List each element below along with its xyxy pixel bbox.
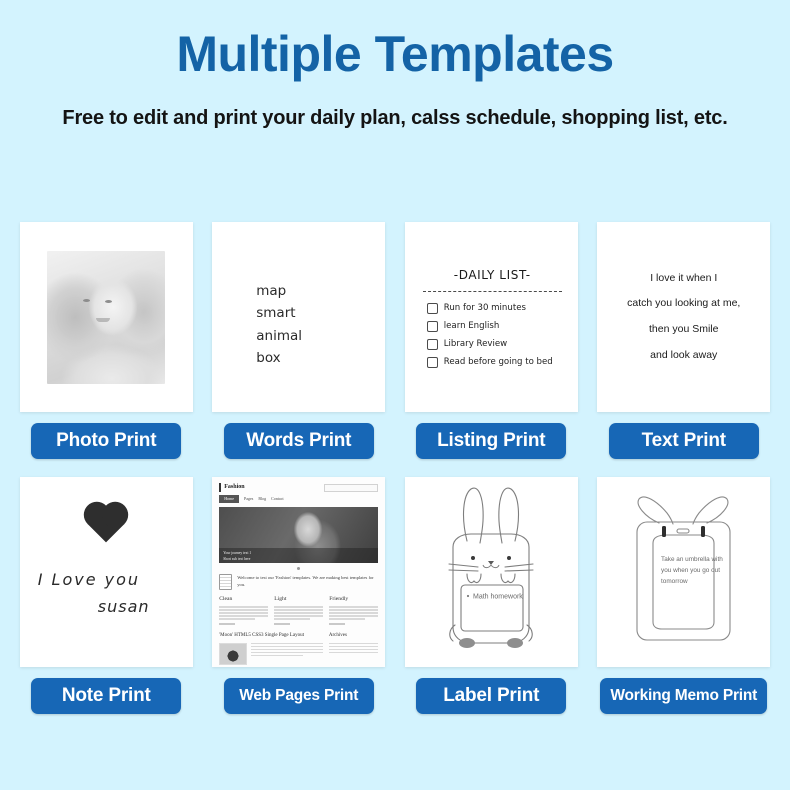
web-read-more-link[interactable] [329, 623, 345, 625]
page-root: Multiple Templates Free to edit and prin… [0, 0, 790, 790]
memo-text-line: Take an umbrella with [661, 556, 723, 563]
listing-print-button[interactable]: Listing Print [416, 423, 566, 459]
bunny-arm-left [467, 574, 481, 583]
card-text-print[interactable]: I love it when I catch you looking at me… [597, 222, 770, 412]
photo-frame [42, 242, 170, 392]
label-print-button[interactable]: Label Print [416, 678, 566, 714]
checklist-item[interactable]: Run for 30 minutes [427, 303, 564, 314]
web-header: Fashion [219, 483, 378, 492]
card-note-print[interactable]: I Love you susan [20, 477, 193, 667]
web-screenshot: Fashion Home Pages Blog Contact Your jou… [212, 477, 385, 667]
web-thumbnail-image [219, 643, 247, 665]
checkbox-icon[interactable] [427, 339, 438, 350]
text-block: I love it when I catch you looking at me… [597, 266, 770, 369]
web-bottom-heading: 'Moon' HTML5 CSS3 Single Page Layout [219, 632, 323, 640]
web-text-placeholder [219, 606, 268, 619]
checklist-item-label: learn English [444, 322, 500, 331]
checklist-item[interactable]: Library Review [427, 339, 564, 350]
heart-icon [88, 506, 125, 543]
template-grid: Photo Print map smart animal box Words P… [0, 222, 790, 714]
checklist-item-label: Library Review [444, 340, 507, 349]
memo-ear-left [638, 497, 673, 524]
web-bottom-section: 'Moon' HTML5 CSS3 Single Page Layout Arc… [219, 632, 378, 665]
web-search-field[interactable] [324, 484, 378, 492]
template-cell-listing-print: -DAILY LIST- Run for 30 minutes learn En… [395, 222, 588, 459]
web-logo: Fashion [219, 483, 244, 492]
bunny-nose [488, 561, 494, 565]
words-print-button[interactable]: Words Print [224, 423, 374, 459]
checklist-item[interactable]: learn English [427, 321, 564, 332]
web-nav-item[interactable]: Contact [271, 496, 283, 502]
page-title: Multiple Templates [0, 28, 790, 81]
template-cell-photo-print: Photo Print [10, 222, 203, 459]
bunny-eye-left [471, 556, 475, 560]
web-carousel-dot-icon[interactable] [297, 567, 300, 570]
web-read-more-link[interactable] [274, 623, 290, 625]
web-feature-columns: Clean Light Friendly [219, 595, 378, 627]
web-text-placeholder [329, 643, 378, 653]
memo-clip-right [701, 526, 705, 537]
web-feature-heading: Friendly [329, 595, 378, 603]
word-list: map smart animal box [212, 222, 385, 412]
card-words-print[interactable]: map smart animal box [212, 222, 385, 412]
card-working-memo-print[interactable]: Take an umbrella with you when you go ou… [597, 477, 770, 667]
web-nav-item[interactable]: Home [219, 495, 239, 503]
checklist-item-label: Run for 30 minutes [444, 304, 526, 313]
web-text-placeholder [329, 606, 378, 619]
template-cell-web-pages-print: Fashion Home Pages Blog Contact Your jou… [203, 477, 396, 714]
memo-text-line: you when you go out [661, 567, 720, 574]
web-read-more-link[interactable] [219, 623, 235, 625]
bunny-body [453, 534, 529, 643]
web-feature-heading: Light [274, 595, 323, 603]
photo-print-button[interactable]: Photo Print [31, 423, 181, 459]
bunny-foot-left [459, 638, 475, 648]
web-bottom-sidebar: Archives [329, 632, 378, 665]
web-sidebar-heading: Archives [329, 632, 378, 640]
note-line-1: I Love you [38, 570, 140, 589]
web-nav: Home Pages Blog Contact [219, 495, 378, 503]
web-feature-column: Clean [219, 595, 268, 627]
word-item: box [256, 347, 385, 369]
html5-badge-icon [219, 574, 232, 590]
template-cell-working-memo-print: Take an umbrella with you when you go ou… [588, 477, 781, 714]
web-feature-column: Friendly [329, 595, 378, 627]
template-cell-words-print: map smart animal box Words Print [203, 222, 396, 459]
card-label-print[interactable]: Math homework [405, 477, 578, 667]
word-item: map [256, 280, 385, 302]
memo-slot [677, 529, 689, 533]
bunny-foot-right [507, 638, 523, 648]
web-text-placeholder [274, 606, 323, 619]
page-subtitle: Free to edit and print your daily plan, … [45, 103, 745, 134]
bunny-mouth [483, 565, 499, 568]
dashed-divider [423, 291, 562, 292]
note-line-2: susan [98, 597, 150, 616]
web-feature-heading: Clean [219, 595, 268, 603]
web-thumb-row [219, 643, 323, 665]
text-line: then you Smile [607, 317, 760, 343]
web-hero-image: Your journey text 1 Short sub text here [219, 507, 378, 563]
memo-clip-left [662, 526, 666, 537]
checkbox-icon[interactable] [427, 321, 438, 332]
text-line: catch you looking at me, [607, 291, 760, 317]
daily-list-title: -DAILY LIST- [421, 268, 564, 282]
web-feature-column: Light [274, 595, 323, 627]
label-box [461, 585, 523, 631]
label-text: Math homework [473, 594, 523, 601]
daily-list: -DAILY LIST- Run for 30 minutes learn En… [405, 222, 578, 412]
portrait-photo-image [47, 251, 165, 384]
memo-badge-drawing: Take an umbrella with you when you go ou… [597, 477, 770, 667]
memo-text-line: tomorrow [661, 578, 688, 585]
web-hero-caption-sub: Short sub text here [223, 557, 374, 563]
word-item: smart [256, 302, 385, 324]
web-text-placeholder [251, 643, 323, 665]
bunny-label-drawing: Math homework [405, 477, 578, 667]
web-hero-caption: Your journey text 1 Short sub text here [219, 548, 378, 563]
template-cell-label-print: Math homework Label Print [395, 477, 588, 714]
bullet-icon [467, 595, 469, 597]
web-welcome-block: Welcome to test our 'Fashion' templates.… [219, 574, 378, 590]
card-web-pages-print[interactable]: Fashion Home Pages Blog Contact Your jou… [212, 477, 385, 667]
checkbox-icon[interactable] [427, 357, 438, 368]
checklist-item-label: Read before going to bed [444, 358, 553, 367]
word-item: animal [256, 325, 385, 347]
web-bottom-main: 'Moon' HTML5 CSS3 Single Page Layout [219, 632, 323, 665]
template-cell-text-print: I love it when I catch you looking at me… [588, 222, 781, 459]
card-listing-print[interactable]: -DAILY LIST- Run for 30 minutes learn En… [405, 222, 578, 412]
checkbox-icon[interactable] [427, 303, 438, 314]
working-memo-print-button[interactable]: Working Memo Print [600, 678, 767, 714]
header: Multiple Templates Free to edit and prin… [0, 0, 790, 134]
text-line: and look away [607, 343, 760, 369]
text-line: I love it when I [607, 266, 760, 292]
web-nav-item[interactable]: Blog [258, 496, 266, 502]
web-pages-print-button[interactable]: Web Pages Print [224, 678, 374, 714]
note-print-button[interactable]: Note Print [31, 678, 181, 714]
bunny-eye-right [507, 556, 511, 560]
checklist-item[interactable]: Read before going to bed [427, 357, 564, 368]
template-cell-note-print: I Love you susan Note Print [10, 477, 203, 714]
text-print-button[interactable]: Text Print [609, 423, 759, 459]
handwritten-note: I Love you susan [20, 477, 193, 667]
card-photo-print[interactable] [20, 222, 193, 412]
web-welcome-text: Welcome to test our 'Fashion' templates.… [237, 574, 378, 588]
web-nav-item[interactable]: Pages [244, 496, 253, 502]
